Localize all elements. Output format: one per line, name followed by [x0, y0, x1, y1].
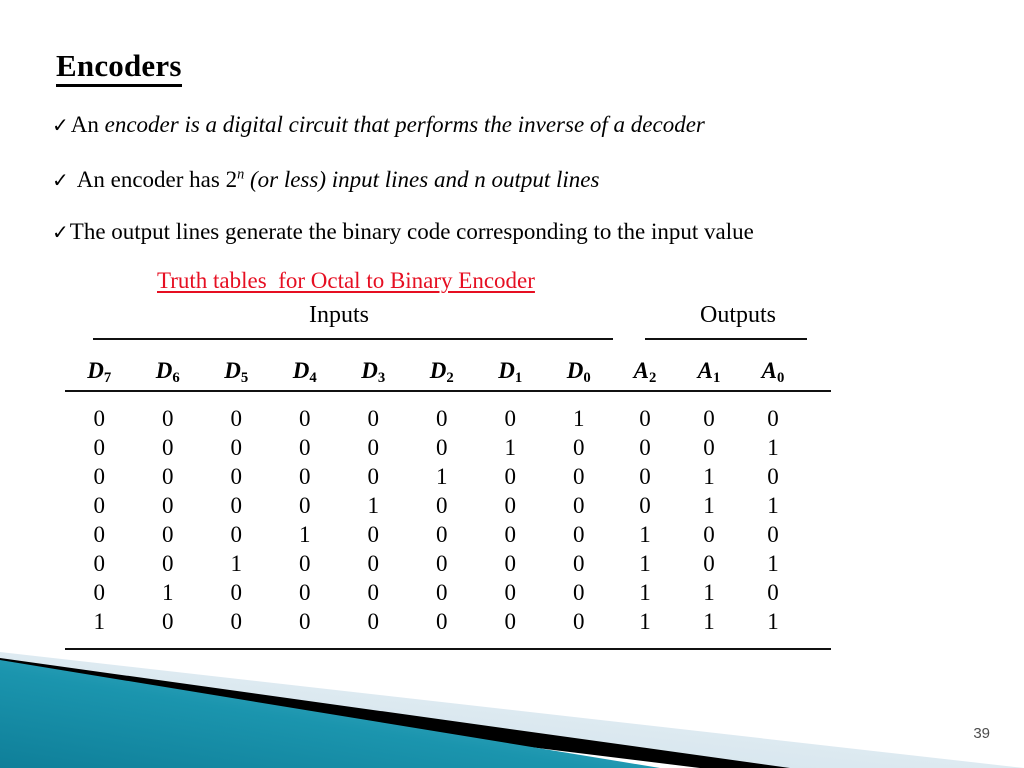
col-sub: 6	[172, 370, 179, 386]
rule-under-column-labels	[65, 390, 831, 392]
bullet-text-1: An encoder is a digital circuit that per…	[71, 112, 705, 138]
cell: 0	[134, 522, 203, 548]
col-base: A	[698, 358, 713, 383]
teal-wedge	[0, 660, 660, 768]
cell: 1	[741, 551, 805, 577]
cell: 1	[408, 464, 477, 490]
cell: 0	[545, 551, 614, 577]
cell: 0	[202, 406, 271, 432]
check-icon: ✓	[52, 115, 69, 138]
cell: 0	[476, 609, 545, 635]
column-header-a1: A1	[677, 358, 741, 384]
cell: 0	[545, 609, 614, 635]
cell: 0	[65, 580, 134, 606]
col-sub: 5	[241, 370, 248, 386]
cell: 0	[545, 522, 614, 548]
rule-under-outputs-header	[645, 338, 807, 340]
column-header-d5: D5	[202, 358, 271, 384]
cell: 0	[408, 551, 477, 577]
bullet-text-2: An encoder has 2n (or less) input lines …	[77, 167, 600, 193]
cell: 1	[613, 580, 677, 606]
cell: 0	[545, 464, 614, 490]
truth-table-caption: Truth tables for Octal to Binary Encoder	[157, 268, 535, 294]
cell: 0	[613, 464, 677, 490]
cell: 0	[476, 406, 545, 432]
cell: 0	[545, 435, 614, 461]
cell: 0	[271, 435, 340, 461]
cell: 0	[65, 493, 134, 519]
cell: 1	[271, 522, 340, 548]
col-sub: 0	[777, 370, 784, 386]
cell: 0	[545, 493, 614, 519]
cell: 0	[613, 493, 677, 519]
bullet-1-seg-2: encoder is a digital circuit that perfor…	[105, 112, 705, 137]
cell: 0	[408, 580, 477, 606]
column-header-d1: D1	[476, 358, 545, 384]
cell: 1	[741, 609, 805, 635]
bullet-item-3: ✓ The output lines generate the binary c…	[52, 219, 754, 245]
cell: 1	[613, 522, 677, 548]
cell: 1	[741, 493, 805, 519]
cell: 0	[677, 406, 741, 432]
column-header-a0: A0	[741, 358, 805, 384]
cell: 0	[741, 464, 805, 490]
bullet-item-1: ✓ An encoder is a digital circuit that p…	[52, 112, 705, 138]
col-base: D	[361, 358, 378, 383]
cell: 0	[741, 580, 805, 606]
cell: 0	[476, 464, 545, 490]
cell: 0	[134, 551, 203, 577]
cell: 0	[202, 493, 271, 519]
page-title: Encoders	[56, 50, 182, 87]
pale-wedge	[0, 652, 1024, 768]
bullet-item-2: ✓ An encoder has 2n (or less) input line…	[52, 167, 599, 193]
cell: 0	[65, 522, 134, 548]
bullet-text-3: The output lines generate the binary cod…	[70, 219, 754, 245]
cell: 1	[677, 609, 741, 635]
cell: 0	[134, 435, 203, 461]
cell: 0	[545, 580, 614, 606]
slide-canvas: Encoders ✓ An encoder is a digital circu…	[0, 0, 1024, 768]
rule-table-bottom	[65, 648, 831, 650]
group-header-inputs: Inputs	[65, 302, 613, 329]
cell: 0	[408, 522, 477, 548]
col-base: D	[87, 358, 104, 383]
cell: 0	[408, 609, 477, 635]
col-base: D	[430, 358, 447, 383]
cell: 0	[741, 522, 805, 548]
cell: 1	[677, 493, 741, 519]
cell: 1	[677, 580, 741, 606]
cell: 0	[741, 406, 805, 432]
col-base: A	[762, 358, 777, 383]
col-base: D	[224, 358, 241, 383]
col-sub: 2	[649, 370, 656, 386]
column-header-d7: D7	[65, 358, 134, 384]
cell: 0	[202, 464, 271, 490]
table-row: 0 0 0 0 0 0 0 1 0 0 0	[65, 406, 833, 432]
cell: 0	[339, 522, 408, 548]
bullet-2-seg-1: An encoder has 2	[77, 167, 237, 192]
col-base: D	[293, 358, 310, 383]
cell: 1	[339, 493, 408, 519]
cell: 0	[476, 522, 545, 548]
cell: 0	[271, 464, 340, 490]
col-base: D	[567, 358, 584, 383]
cell: 0	[613, 435, 677, 461]
cell: 1	[545, 406, 614, 432]
table-row: 0 0 0 1 0 0 0 0 1 0 0	[65, 522, 833, 548]
bullet-1-seg-1: An	[71, 112, 105, 137]
col-base: D	[156, 358, 173, 383]
cell: 1	[741, 435, 805, 461]
cell: 0	[339, 435, 408, 461]
cell: 0	[339, 551, 408, 577]
col-sub: 2	[446, 370, 453, 386]
table-row: 0 0 1 0 0 0 0 0 1 0 1	[65, 551, 833, 577]
column-header-d3: D3	[339, 358, 408, 384]
check-icon: ✓	[52, 170, 69, 193]
table-row: 1 0 0 0 0 0 0 0 1 1 1	[65, 609, 833, 635]
cell: 1	[613, 609, 677, 635]
cell: 0	[677, 435, 741, 461]
col-sub: 1	[713, 370, 720, 386]
cell: 0	[65, 551, 134, 577]
cell: 1	[134, 580, 203, 606]
col-sub: 0	[583, 370, 590, 386]
cell: 0	[271, 551, 340, 577]
col-sub: 3	[378, 370, 385, 386]
column-header-d6: D6	[134, 358, 203, 384]
column-header-d2: D2	[408, 358, 477, 384]
cell: 0	[408, 406, 477, 432]
cell: 0	[202, 580, 271, 606]
truth-table: Inputs Outputs D7 D6 D5 D4 D3 D2 D1 D0 A…	[65, 302, 833, 650]
cell: 0	[613, 406, 677, 432]
cell: 0	[202, 522, 271, 548]
col-sub: 4	[309, 370, 316, 386]
column-header-d4: D4	[271, 358, 340, 384]
col-sub: 7	[104, 370, 111, 386]
table-row: 0 0 0 0 0 0 1 0 0 0 1	[65, 435, 833, 461]
cell: 1	[613, 551, 677, 577]
table-header-row: D7 D6 D5 D4 D3 D2 D1 D0 A2 A1 A0	[65, 358, 833, 384]
cell: 0	[202, 609, 271, 635]
cell: 0	[134, 609, 203, 635]
table-row: 0 0 0 0 1 0 0 0 0 1 1	[65, 493, 833, 519]
cell: 0	[476, 493, 545, 519]
cell: 0	[677, 522, 741, 548]
cell: 0	[271, 406, 340, 432]
cell: 0	[134, 464, 203, 490]
black-wedge	[0, 658, 790, 768]
cell: 0	[65, 464, 134, 490]
cell: 0	[408, 435, 477, 461]
column-header-d0: D0	[545, 358, 614, 384]
rule-under-inputs-header	[93, 338, 613, 340]
cell: 0	[134, 406, 203, 432]
cell: 0	[134, 493, 203, 519]
group-header-outputs: Outputs	[643, 302, 833, 329]
cell: 0	[271, 609, 340, 635]
cell: 0	[339, 609, 408, 635]
cell: 0	[339, 464, 408, 490]
cell: 1	[677, 464, 741, 490]
col-base: A	[634, 358, 649, 383]
cell: 0	[408, 493, 477, 519]
cell: 0	[202, 435, 271, 461]
cell: 0	[476, 580, 545, 606]
cell: 0	[271, 493, 340, 519]
cell: 0	[65, 435, 134, 461]
slide-number: 39	[973, 725, 990, 742]
cell: 1	[476, 435, 545, 461]
table-row: 0 1 0 0 0 0 0 0 1 1 0	[65, 580, 833, 606]
cell: 0	[271, 580, 340, 606]
footer-corner-decoration	[0, 638, 1024, 768]
bullet-2-seg-3: (or less) input lines and n output lines	[244, 167, 599, 192]
col-base: D	[498, 358, 515, 383]
cell: 0	[339, 580, 408, 606]
table-row: 0 0 0 0 0 1 0 0 0 1 0	[65, 464, 833, 490]
cell: 0	[65, 406, 134, 432]
cell: 0	[677, 551, 741, 577]
check-icon: ✓	[52, 222, 69, 245]
cell: 0	[476, 551, 545, 577]
column-header-a2: A2	[613, 358, 677, 384]
cell: 1	[202, 551, 271, 577]
cell: 0	[339, 406, 408, 432]
col-sub: 1	[515, 370, 522, 386]
cell: 1	[65, 609, 134, 635]
